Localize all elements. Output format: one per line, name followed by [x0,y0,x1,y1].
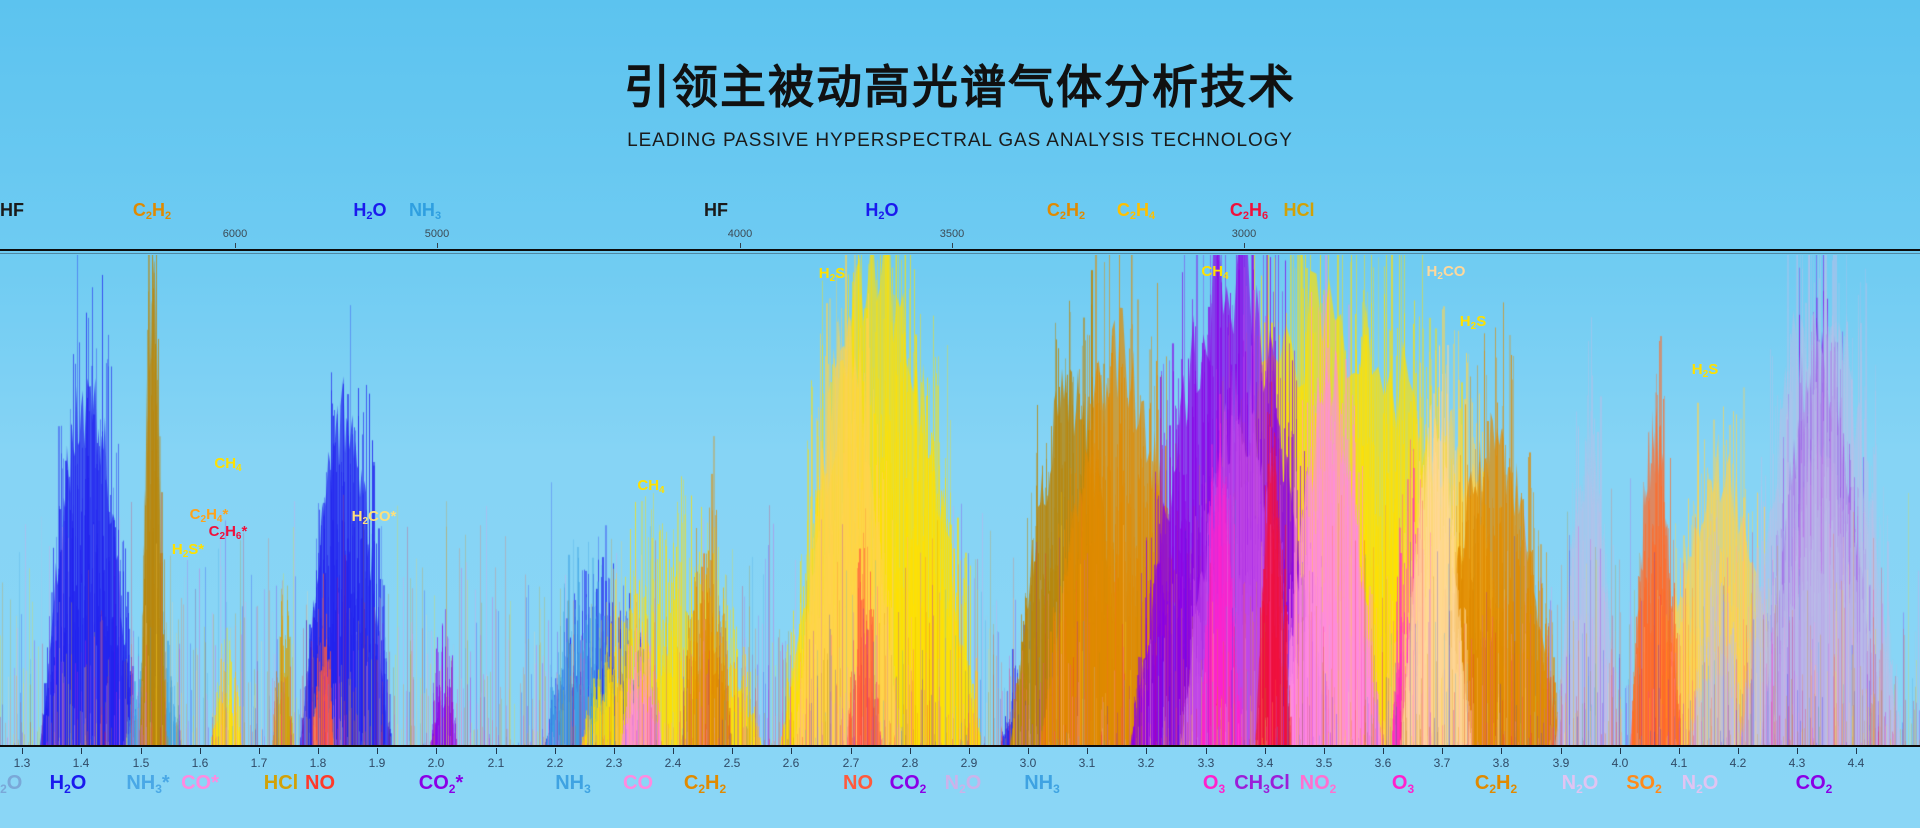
bottom-axis-tick-mark [22,748,23,754]
top-axis-tick-label: 3500 [940,228,964,240]
bottom-axis-tick-mark [436,748,437,754]
top-gas-label-hcl: HCl [1284,200,1315,221]
bottom-axis-tick-mark [200,748,201,754]
bottom-axis-tick-label: 1.7 [251,756,268,770]
bottom-axis-tick-label: 2.7 [843,756,860,770]
bottom-gas-label-co2: CO2 [890,772,927,795]
bottom-gas-label-no2: NO2 [1300,772,1337,795]
spectra-poster: 引领主被动高光谱气体分析技术 LEADING PASSIVE HYPERSPEC… [0,0,1920,828]
bottom-gas-label-n2o: N2O [1562,772,1599,795]
bottom-axis-tick-label: 2.5 [724,756,741,770]
bottom-axis-tick-mark [1206,748,1207,754]
bottom-axis-tick-mark [1856,748,1857,754]
bottom-gas-label-nh3: NH3 [555,772,591,795]
top-axis-tick-mark [437,243,438,248]
bottom-axis-tick-mark [732,748,733,754]
bottom-gas-label-n2o: N2O [0,772,22,795]
top-axis-tick-mark [235,243,236,248]
bottom-gas-label-n2o: N2O [1682,772,1719,795]
bottom-axis-tick-label: 2.1 [488,756,505,770]
bottom-axis-tick-label: 3.7 [1434,756,1451,770]
bottom-gas-label-hcl: HCl [264,772,298,795]
bottom-axis-tick-label: 3.5 [1316,756,1333,770]
top-axis-tick-label: 6000 [223,228,247,240]
top-gas-label-row: HFC2H2H2ONH3HFH2OC2H2C2H4C2H6HCl [0,200,1920,230]
top-gas-label-h2o: H2O [865,200,898,221]
bottom-axis-tick-mark [1324,748,1325,754]
bottom-axis-tick-label: 3.2 [1138,756,1155,770]
top-gas-label-hf: HF [704,200,728,221]
bottom-axis-tick-label: 2.3 [606,756,623,770]
bottom-axis-tick-mark [673,748,674,754]
bottom-gas-label-c2h2: C2H2 [1475,772,1517,795]
bottom-axis-tick-label: 3.9 [1553,756,1570,770]
bottom-axis-tick-mark [377,748,378,754]
top-gas-label-c2h6: C2H6 [1230,200,1268,221]
bottom-axis-tick-label: 4.1 [1671,756,1688,770]
top-axis-tick-mark [1244,243,1245,248]
top-gas-label-c2h2: C2H2 [133,200,171,221]
bottom-axis-tick-label: 1.8 [310,756,327,770]
bottom-axis-tick-label: 3.4 [1257,756,1274,770]
spectrum-plot: CH4C2H4*C2H6*H2S*H2CO*CH4H2SCH4H2COH2SH2… [0,255,1920,745]
bottom-axis-tick-mark [1561,748,1562,754]
bottom-gas-label-co: CO* [181,772,219,795]
bottom-axis-tick-label: 1.9 [369,756,386,770]
top-gas-label-c2h2: C2H2 [1047,200,1085,221]
bottom-gas-label-no: NO [843,772,873,795]
bottom-axis-tick-label: 4.0 [1612,756,1629,770]
bottom-axis-tick-label: 1.4 [73,756,90,770]
bottom-axis-tick-mark [1797,748,1798,754]
bottom-axis-tick-mark [1620,748,1621,754]
bottom-axis-tick-mark [851,748,852,754]
bottom-axis-tick-label: 2.9 [961,756,978,770]
bottom-gas-label-nh3: NH3* [126,772,169,795]
bottom-axis-tick-label: 1.5 [133,756,150,770]
bottom-axis-tick-mark [1501,748,1502,754]
bottom-gas-label-c2h2: C2H2 [684,772,726,795]
bottom-axis-tick-label: 3.8 [1493,756,1510,770]
bottom-axis-tick-mark [1442,748,1443,754]
bottom-axis-tick-mark [1146,748,1147,754]
top-gas-label-nh3: NH3 [409,200,441,221]
bottom-axis-tick-label: 3.3 [1198,756,1215,770]
bottom-axis-tick-mark [910,748,911,754]
bottom-axis-tick-mark [259,748,260,754]
bottom-axis-tick-mark [969,748,970,754]
top-axis-tick-label: 4000 [728,228,752,240]
bottom-axis-tick-mark [1679,748,1680,754]
bottom-axis-tick-mark [1738,748,1739,754]
top-axis-tick-mark [952,243,953,248]
bottom-axis-tick-label: 2.4 [665,756,682,770]
bottom-gas-label-row: N2OH2ONH3*CO*HClNOCO2*NH3COC2H2NOCO2N2ON… [0,772,1920,812]
bottom-axis-tick-label: 2.6 [783,756,800,770]
bottom-axis-tick-mark [1383,748,1384,754]
bottom-axis-tick-mark [791,748,792,754]
bottom-gas-label-co2: CO2 [1796,772,1833,795]
bottom-axis-tick-label: 1.6 [192,756,209,770]
poster-header: 引领主被动高光谱气体分析技术 LEADING PASSIVE HYPERSPEC… [0,0,1920,200]
bottom-gas-label-co: CO [623,772,653,795]
bottom-gas-label-ch3cl: CH3Cl [1234,772,1290,795]
bottom-axis-tick-label: 3.1 [1079,756,1096,770]
bottom-gas-label-o3: O3 [1203,772,1225,795]
bottom-axis-tick-label: 2.2 [547,756,564,770]
bottom-axis-tick-mark [318,748,319,754]
bottom-axis-tick-mark [555,748,556,754]
bottom-axis-tick-mark [614,748,615,754]
bottom-axis-tick-mark [1265,748,1266,754]
bottom-gas-label-o3: O3 [1392,772,1414,795]
top-gas-label-h2o: H2O [353,200,386,221]
bottom-axis-tick-mark [1087,748,1088,754]
bottom-gas-label-so2: SO2 [1626,772,1662,795]
bottom-axis-tick-label: 4.4 [1848,756,1865,770]
bottom-axis-tick-mark [141,748,142,754]
page-title: 引领主被动高光谱气体分析技术 [0,0,1920,113]
bottom-axis-tick-mark [496,748,497,754]
bottom-axis-tick-label: 4.3 [1789,756,1806,770]
bottom-axis-tick-label: 3.0 [1020,756,1037,770]
top-axis-line-secondary [0,253,1920,254]
top-axis-line [0,249,1920,251]
bottom-gas-label-h2o: H2O [50,772,87,795]
spectrum-canvas [0,255,1920,745]
bottom-axis-tick-label: 4.2 [1730,756,1747,770]
bottom-gas-label-nh3: NH3 [1024,772,1060,795]
bottom-gas-label-n2o: N2O [945,772,982,795]
top-axis-tick-label: 5000 [425,228,449,240]
bottom-axis-tick-mark [81,748,82,754]
bottom-axis-tick-label: 1.3 [14,756,31,770]
top-axis-tick-label: 3000 [1232,228,1256,240]
top-gas-label-c2h4: C2H4 [1117,200,1155,221]
top-gas-label-hf: HF [0,200,24,221]
bottom-axis-tick-label: 3.6 [1375,756,1392,770]
top-axis-tick-mark [740,243,741,248]
bottom-axis-tick-mark [1028,748,1029,754]
bottom-axis-tick-label: 2.8 [902,756,919,770]
page-subtitle: LEADING PASSIVE HYPERSPECTRAL GAS ANALYS… [0,113,1920,152]
bottom-gas-label-no: NO [305,772,335,795]
bottom-axis-tick-label: 2.0 [428,756,445,770]
bottom-gas-label-co2: CO2* [419,772,463,795]
